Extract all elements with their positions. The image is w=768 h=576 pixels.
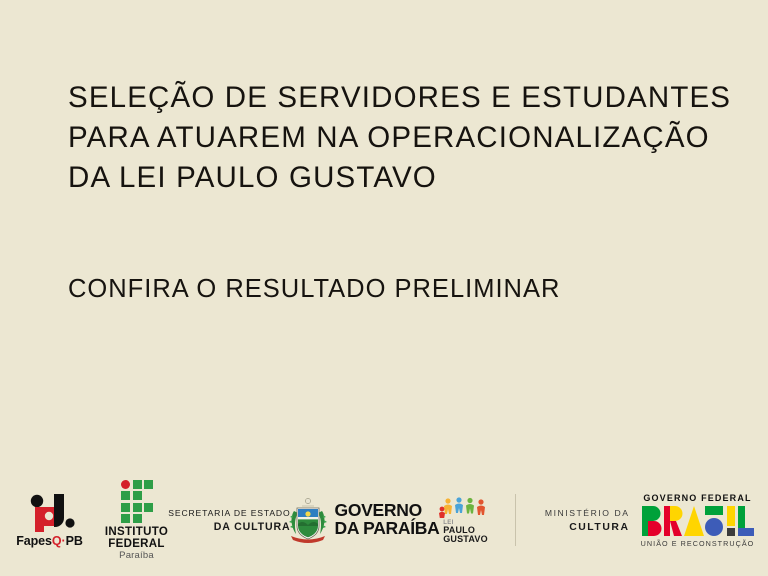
fapesq-wordmark: FapesQ·PB bbox=[16, 535, 83, 548]
logo-governo-paraiba: GOVERNO DA PARAÍBA bbox=[299, 480, 429, 560]
govbr-line-3: UNIÃO E RECONSTRUÇÃO bbox=[641, 539, 755, 548]
lpg-line-2: GUSTAVO bbox=[443, 535, 488, 544]
instituto-federal-mark-icon bbox=[121, 480, 152, 524]
iff-square bbox=[133, 503, 142, 512]
iff-square bbox=[144, 480, 153, 489]
fapesq-word-pb: PB bbox=[66, 534, 83, 548]
iff-square bbox=[133, 514, 142, 523]
gov-pb-line-2: DA PARAÍBA bbox=[335, 520, 440, 538]
logo-bar: FapesQ·PB INSTITUTO FEDERAL bbox=[0, 478, 768, 562]
logo-instituto-federal: INSTITUTO FEDERAL Paraíba bbox=[95, 480, 179, 560]
iff-line-2: FEDERAL bbox=[105, 539, 168, 551]
iff-red-dot bbox=[121, 480, 130, 489]
govbr-line-1: GOVERNO FEDERAL bbox=[643, 493, 751, 503]
ministerio-line-1: MINISTÉRIO DA bbox=[545, 508, 630, 518]
iff-line-3: Paraíba bbox=[105, 551, 168, 561]
ministerio-line-2: CULTURA bbox=[569, 522, 629, 533]
fapesq-word-q: Q bbox=[52, 534, 62, 548]
iff-square bbox=[133, 480, 142, 489]
logo-lei-paulo-gustavo: LEI PAULO GUSTAVO bbox=[429, 480, 503, 560]
paulo-gustavo-figures-icon bbox=[439, 497, 493, 518]
iff-square bbox=[121, 503, 130, 512]
logo-governo-federal: GOVERNO FEDERAL bbox=[636, 480, 760, 560]
instituto-federal-wordmark: INSTITUTO FEDERAL Paraíba bbox=[105, 527, 168, 560]
secretaria-line-1: SECRETARIA DE ESTADO bbox=[168, 508, 290, 518]
logo-secretaria-cultura: SECRETARIA DE ESTADO DA CULTURA bbox=[179, 480, 299, 560]
iff-square bbox=[121, 491, 130, 500]
logo-fapesq-pb: FapesQ·PB bbox=[9, 480, 95, 560]
governo-paraiba-wordmark: GOVERNO DA PARAÍBA bbox=[335, 502, 440, 538]
slide-root: SELEÇÃO DE SERVIDORES E ESTUDANTES PARA … bbox=[0, 0, 768, 576]
brasil-wordmark-icon bbox=[642, 506, 754, 536]
headline-block: SELEÇÃO DE SERVIDORES E ESTUDANTES PARA … bbox=[68, 78, 758, 198]
iff-square bbox=[133, 491, 142, 500]
iff-square-empty bbox=[144, 491, 153, 500]
iff-square bbox=[121, 514, 130, 523]
page-subtitle: CONFIRA O RESULTADO PRELIMINAR bbox=[68, 273, 758, 305]
fapesq-word-fapes: Fapes bbox=[16, 534, 52, 548]
paraiba-coat-of-arms-icon bbox=[288, 497, 328, 543]
paulo-gustavo-wordmark: LEI PAULO GUSTAVO bbox=[443, 520, 488, 544]
fapesq-mark-icon bbox=[24, 492, 76, 532]
secretaria-line-2: DA CULTURA bbox=[214, 521, 291, 533]
logo-divider bbox=[515, 494, 516, 546]
iff-square bbox=[144, 503, 153, 512]
page-title: SELEÇÃO DE SERVIDORES E ESTUDANTES PARA … bbox=[68, 78, 758, 198]
subheadline-block: CONFIRA O RESULTADO PRELIMINAR bbox=[68, 273, 758, 305]
iff-square-empty bbox=[144, 514, 153, 523]
logo-ministerio-cultura: MINISTÉRIO DA CULTURA bbox=[528, 480, 636, 560]
